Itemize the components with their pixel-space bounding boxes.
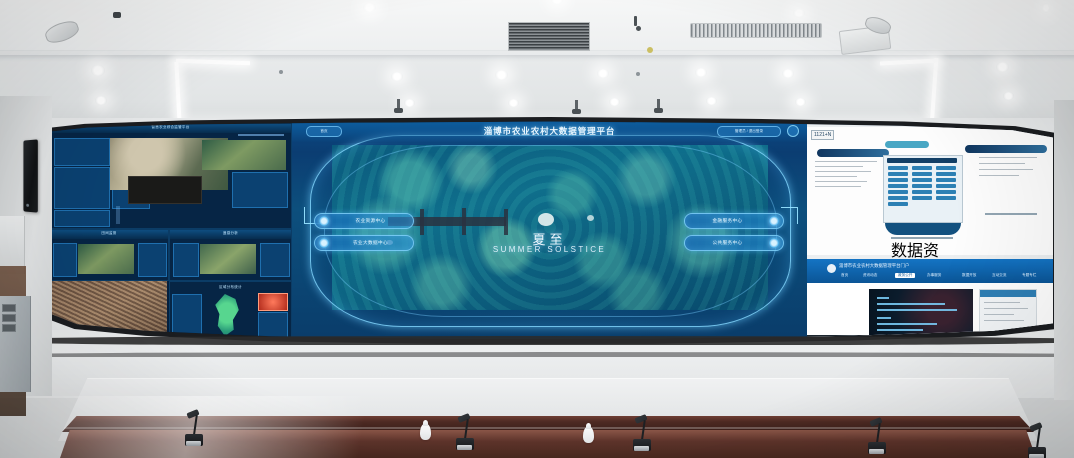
mic-gooseneck — [193, 415, 198, 435]
notice-line — [984, 320, 1024, 321]
floor-light-reflection — [0, 396, 1074, 458]
doc-cell — [888, 184, 908, 188]
control-room-photo: 智慧农业综合监管平台 田间监测 — [0, 0, 1074, 458]
doc-cell — [936, 190, 956, 194]
doc-text-line — [815, 166, 863, 167]
user-chip[interactable]: 管理员 / 退出登录 — [717, 126, 781, 137]
downlight — [793, 9, 805, 17]
doc-text-line — [979, 163, 1025, 164]
ceiling-camera — [397, 99, 400, 109]
doc-text-line — [815, 176, 857, 177]
dashboard-field-monitor[interactable]: 田间监测 — [49, 229, 169, 281]
gear-icon[interactable] — [787, 125, 799, 137]
doc-cell — [912, 166, 932, 170]
doc-cell — [888, 196, 908, 200]
video-subtitle-line — [877, 323, 937, 325]
mic-capsule — [869, 417, 882, 427]
detector-stem — [634, 16, 637, 26]
downlight — [695, 68, 707, 77]
right-wall — [1054, 100, 1074, 400]
portal-nav-disclosure[interactable]: 政务公开 — [895, 273, 915, 278]
mic-capsule — [1029, 422, 1042, 432]
downlight — [404, 99, 415, 107]
cloud-icon — [769, 216, 779, 226]
dashboard-regional-stats[interactable]: 区域分布统计 — [169, 281, 292, 341]
doc-text-line — [815, 161, 877, 162]
downlight — [363, 3, 376, 12]
dashboard-title: 遥感分析 — [223, 231, 238, 236]
ceiling-camera — [657, 99, 660, 109]
video-subtitle-line — [877, 309, 957, 311]
downlight — [1043, 3, 1049, 13]
doc-matrix-header — [887, 158, 957, 163]
downlight — [508, 99, 519, 107]
data-rail[interactable] — [260, 243, 290, 277]
portal-nav-interaction[interactable]: 互动交流 — [992, 273, 1006, 278]
toolbar-items — [238, 134, 284, 136]
video-subtitle-line — [877, 297, 889, 299]
nav-button-finance-center[interactable]: 金融服务中心 — [684, 213, 784, 229]
doc-text-line — [979, 157, 1037, 158]
notice-line — [984, 308, 1028, 309]
notice-line — [984, 314, 1014, 315]
portal-video-player[interactable] — [869, 289, 973, 335]
video-subtitle-line — [877, 317, 891, 319]
wall-skirting-shadow — [0, 352, 1074, 357]
ceiling — [0, 0, 1074, 128]
downlight — [495, 70, 508, 80]
center-main-display[interactable]: 淄博市农业农村大数据管理平台 首页 管理员 / 退出登录 农业资源中心 农业大数… — [292, 121, 807, 341]
nav-label: 农业资源中心 — [332, 218, 409, 224]
globe-icon — [319, 216, 329, 226]
downlight — [597, 69, 609, 78]
wall-speaker — [23, 139, 37, 212]
map-thumbnail[interactable] — [200, 244, 256, 274]
doc-text-line — [979, 175, 1019, 176]
axis-label — [116, 206, 120, 224]
season-name-en: SUMMER SOLSTICE — [292, 245, 807, 254]
doc-text-line — [979, 169, 1033, 170]
conference-microphone[interactable] — [185, 400, 203, 446]
sprinkler — [636, 72, 640, 76]
downlight — [1003, 92, 1014, 100]
downlight — [795, 98, 806, 106]
downlight — [95, 96, 107, 105]
document-tag: 1121+N — [811, 130, 834, 140]
nav-button-resource-center[interactable]: 农业资源中心 — [314, 213, 414, 229]
portal-nav-open-data[interactable]: 数据开放 — [962, 273, 976, 278]
stats-panel[interactable] — [232, 172, 288, 208]
mic-capsule — [186, 409, 199, 419]
doc-text-line — [815, 181, 867, 182]
alert-list[interactable] — [258, 312, 288, 338]
doc-cell — [888, 172, 908, 176]
tool-rail[interactable] — [173, 243, 199, 277]
led-video-wall[interactable]: 智慧农业综合监管平台 田间监测 — [44, 117, 1056, 345]
doc-cell — [888, 178, 908, 182]
portal-nav-topics[interactable]: 专题专栏 — [1022, 273, 1036, 278]
equipment-rack[interactable] — [0, 296, 31, 392]
panel-header — [980, 290, 1036, 297]
doc-section-top — [885, 141, 929, 148]
ceiling-camera — [575, 100, 578, 110]
mic-keypad[interactable] — [1029, 454, 1044, 458]
mic-capsule — [634, 414, 647, 424]
doc-cell — [912, 190, 932, 194]
mic-gooseneck — [1036, 428, 1041, 448]
ceiling-camera — [113, 12, 121, 18]
doc-cell — [936, 166, 956, 170]
mic-keypad[interactable] — [869, 449, 884, 454]
doc-cell — [936, 172, 956, 176]
doc-text-line — [815, 171, 871, 172]
doc-text-line — [815, 186, 861, 187]
downlight — [782, 69, 794, 78]
downlight — [706, 97, 717, 105]
rack-slot[interactable] — [2, 324, 16, 332]
doc-cell — [936, 184, 956, 188]
mic-capsule — [457, 413, 470, 423]
notice-line — [984, 302, 1020, 303]
teacup — [420, 424, 431, 440]
doc-cell — [912, 178, 932, 182]
region-map[interactable] — [206, 294, 248, 336]
dashboard-remote-sensing[interactable]: 遥感分析 — [169, 229, 292, 281]
doc-cell — [912, 184, 932, 188]
dashboard-title: 智慧农业综合监管平台 — [152, 125, 190, 130]
right-screen-cluster[interactable]: 1121+N — [807, 121, 1053, 341]
speaker-indicator — [26, 204, 29, 207]
tool-rail[interactable] — [53, 243, 77, 277]
doc-cell — [888, 190, 908, 194]
field-photo — [202, 140, 286, 170]
data-rail[interactable] — [138, 243, 167, 277]
doc-section-right — [965, 145, 1047, 153]
portal-title: 淄博市农业农村大数据管理平台门户 — [839, 263, 909, 269]
filter-panel[interactable] — [54, 167, 110, 209]
nav-label: 金融服务中心 — [689, 218, 766, 224]
dashboard-title: 区域分布统计 — [219, 285, 242, 290]
portal-logo-icon — [827, 264, 836, 273]
doc-cell — [912, 196, 932, 200]
kpi-card[interactable] — [54, 138, 110, 166]
doc-cell — [936, 178, 956, 182]
portal-nav-home[interactable]: 首页 — [841, 273, 848, 278]
mic-keypad[interactable] — [457, 445, 472, 450]
video-subtitle-line — [877, 329, 923, 331]
video-wall-screen: 智慧农业综合监管平台 田间监测 — [47, 121, 1053, 341]
doc-cell — [936, 196, 956, 200]
downlight — [391, 72, 403, 81]
indicator-light — [647, 47, 653, 53]
mic-keypad[interactable] — [634, 446, 649, 451]
video-feed[interactable] — [128, 176, 202, 204]
smoke-detector — [636, 26, 641, 31]
downlight — [91, 65, 105, 76]
wall-skirting-dark — [0, 336, 1074, 345]
conference-microphone[interactable] — [1028, 415, 1046, 458]
downlight — [609, 98, 620, 106]
mic-gooseneck — [464, 419, 469, 439]
conference-microphone[interactable] — [456, 404, 474, 450]
alarm-badge[interactable] — [258, 293, 288, 311]
mic-gooseneck — [876, 423, 881, 443]
rack-slot[interactable] — [2, 304, 16, 312]
dashboard-title: 田间监测 — [101, 231, 116, 236]
rack-slot[interactable] — [2, 314, 16, 322]
doc-cell — [888, 166, 908, 170]
downlight — [996, 62, 1009, 72]
portal-nav-news[interactable]: 资讯动态 — [863, 273, 877, 278]
doc-cell — [912, 172, 932, 176]
mic-keypad[interactable] — [186, 441, 201, 446]
architecture-document[interactable]: 1121+N — [807, 127, 1053, 255]
doc-section-left — [817, 149, 889, 157]
conference-microphone[interactable] — [633, 405, 651, 451]
linear-air-diffuser — [690, 23, 822, 38]
legend-panel — [54, 210, 110, 227]
doc-cell — [888, 202, 908, 206]
doc-footer-ribbon — [885, 223, 961, 235]
conference-microphone[interactable] — [868, 408, 886, 454]
dashboard-monitoring-platform[interactable]: 智慧农业综合监管平台 — [49, 123, 292, 229]
portal-nav-services[interactable]: 办事服务 — [927, 273, 941, 278]
metric-list[interactable] — [172, 294, 202, 338]
air-return-grille — [508, 22, 590, 51]
home-chip[interactable]: 首页 — [306, 126, 342, 137]
sprinkler — [279, 70, 283, 74]
map-thumbnail[interactable] — [78, 244, 134, 274]
video-subtitle-line — [877, 303, 945, 305]
teacup — [583, 427, 594, 443]
left-dashboard-cluster[interactable]: 智慧农业综合监管平台 田间监测 — [47, 121, 292, 341]
mic-gooseneck — [641, 420, 646, 440]
doc-annotation — [985, 213, 1037, 215]
doc-footer-label: 数据资源体系 — [891, 237, 953, 239]
